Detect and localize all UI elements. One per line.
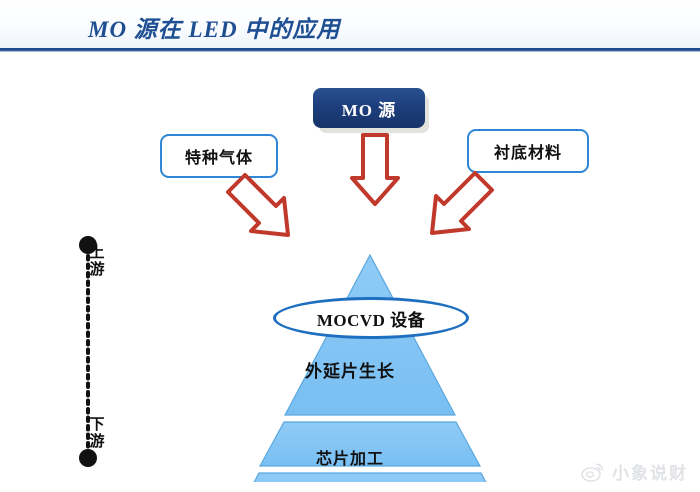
weibo-icon [581, 462, 605, 482]
arrow-substrate-to-mocvd-icon [432, 173, 492, 233]
arrow-mo-to-mocvd-icon [352, 135, 398, 204]
watermark-text: 小象说财 [612, 459, 688, 484]
upstream-downstream-axis: 上游 下游 [40, 230, 140, 475]
axis-bottom-dot [79, 449, 97, 467]
slide-canvas: MO 源在 LED 中的应用 MO 源 特种气体 衬底材料 [0, 0, 700, 492]
axis-label-downstream: 下游 [86, 416, 108, 450]
arrow-gas-to-mocvd-icon [228, 175, 288, 235]
axis-label-upstream: 上游 [86, 244, 108, 278]
watermark: 小象说财 [581, 459, 688, 484]
